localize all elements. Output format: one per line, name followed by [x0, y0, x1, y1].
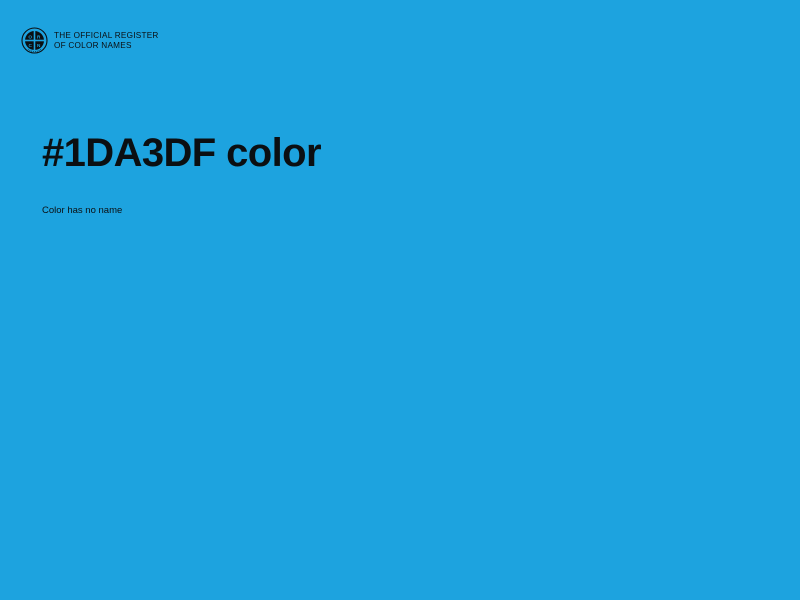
main-content: #1DA3DF color Color has no name	[42, 124, 742, 216]
circular-seal-logo-icon[interactable]: O R C N	[21, 27, 48, 54]
color-name-status: Color has no name	[42, 182, 742, 216]
brand-header[interactable]: O R C N THE OFFICIAL REGISTER OF COLOR N…	[21, 27, 159, 54]
svg-text:O: O	[28, 35, 32, 40]
page-title: #1DA3DF color	[42, 124, 742, 182]
color-detail-page: O R C N THE OFFICIAL REGISTER OF COLOR N…	[0, 0, 800, 600]
wordmark: THE OFFICIAL REGISTER OF COLOR NAMES	[54, 31, 159, 50]
wordmark-line-1: THE OFFICIAL REGISTER	[54, 31, 159, 41]
wordmark-line-2: OF COLOR NAMES	[54, 41, 159, 51]
